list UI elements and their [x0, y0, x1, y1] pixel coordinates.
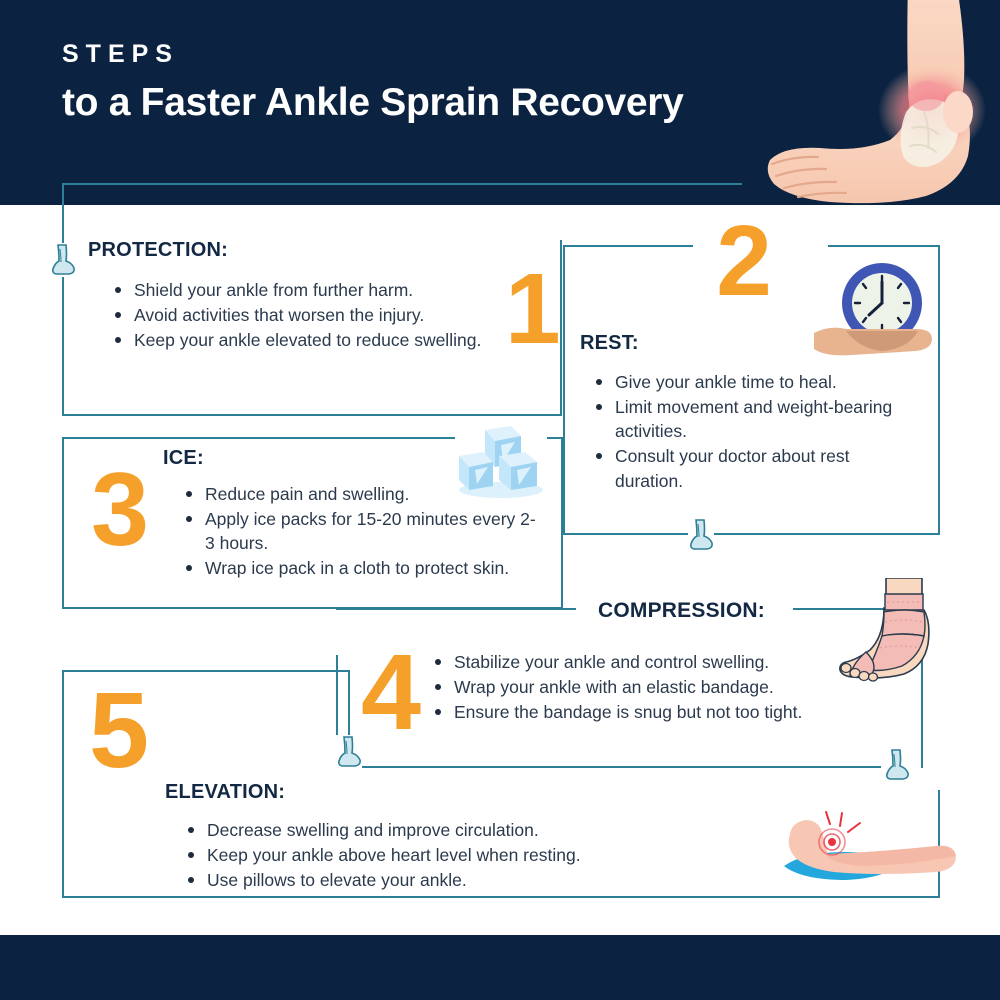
- step1-top-connector: [62, 183, 742, 185]
- list-item: Decrease swelling and improve circulatio…: [185, 818, 725, 842]
- list-item: Limit movement and weight-bearing activi…: [593, 395, 913, 443]
- step-5-heading: ELEVATION:: [165, 782, 285, 802]
- step-1-heading: PROTECTION:: [88, 240, 228, 260]
- ice-cubes-icon: [455, 424, 547, 500]
- list-item: Give your ankle time to heal.: [593, 370, 913, 394]
- hand-holding-clock-icon: [812, 255, 938, 367]
- list-item: Ensure the bandage is snug but not too t…: [432, 700, 902, 724]
- step2-top-left-border: [563, 245, 693, 247]
- foot-icon: [688, 518, 714, 552]
- step1-left-border: [62, 268, 64, 416]
- step-5-number: 5: [80, 688, 156, 772]
- list-item: Keep your ankle elevated to reduce swell…: [112, 328, 502, 352]
- list-item: Wrap your ankle with an elastic bandage.: [432, 675, 902, 699]
- step2-bottom-left-border: [563, 533, 688, 535]
- step2-right-border: [938, 245, 940, 535]
- list-item: Apply ice packs for 15-20 minutes every …: [183, 507, 543, 555]
- step-2-bullets: Give your ankle time to heal. Limit move…: [593, 370, 913, 494]
- list-item: Wrap ice pack in a cloth to protect skin…: [183, 556, 543, 580]
- step5-left-border: [62, 670, 64, 898]
- step4-bottom-border: [336, 766, 881, 768]
- step-1-number: 1: [505, 270, 555, 348]
- step5-bottom-border: [62, 896, 940, 898]
- step3-right-border: [561, 437, 563, 609]
- list-item: Keep your ankle above heart level when r…: [185, 843, 725, 867]
- step2-top-right-border: [828, 245, 940, 247]
- infographic-canvas: STEPS to a Faster Ankle Sprain Recovery: [0, 0, 1000, 1000]
- step-4-heading: COMPRESSION:: [588, 600, 775, 621]
- elevated-leg-on-pillow-icon: [768, 808, 958, 888]
- header-text-group: STEPS to a Faster Ankle Sprain Recovery: [62, 42, 684, 126]
- list-item: Shield your ankle from further harm.: [112, 278, 502, 302]
- page-title: to a Faster Ankle Sprain Recovery: [62, 81, 684, 126]
- step-5-bullets: Decrease swelling and improve circulatio…: [185, 818, 725, 893]
- foot-icon: [884, 748, 910, 782]
- step3-left-border: [62, 437, 64, 609]
- foot-icon: [50, 243, 76, 277]
- footer-band: [0, 935, 1000, 1000]
- step-2-heading: REST:: [580, 333, 639, 353]
- step-2-number: 2: [712, 222, 774, 300]
- step-3-number: 3: [82, 470, 156, 551]
- steps-kicker: STEPS: [62, 42, 684, 67]
- step2-left-border: [563, 245, 565, 535]
- step1-right-border: [560, 240, 562, 416]
- step3-top-left-border: [62, 437, 457, 439]
- list-item: Consult your doctor about rest duration.: [593, 444, 913, 492]
- step-4-number: 4: [352, 650, 428, 734]
- step4-top-left-border: [336, 608, 576, 610]
- list-item: Use pillows to elevate your ankle.: [185, 868, 725, 892]
- list-item: Avoid activities that worsen the injury.: [112, 303, 502, 327]
- foot-icon: [336, 735, 362, 769]
- step-1-bullets: Shield your ankle from further harm. Avo…: [112, 278, 502, 353]
- bandaged-foot-icon: [838, 578, 948, 690]
- step-3-heading: ICE:: [163, 448, 204, 468]
- injured-ankle-illustration: [760, 0, 1000, 215]
- step1-bottom-border: [62, 414, 562, 416]
- step2-bottom-right-border: [712, 533, 940, 535]
- step-4-bullets: Stabilize your ankle and control swellin…: [432, 650, 902, 725]
- list-item: Stabilize your ankle and control swellin…: [432, 650, 902, 674]
